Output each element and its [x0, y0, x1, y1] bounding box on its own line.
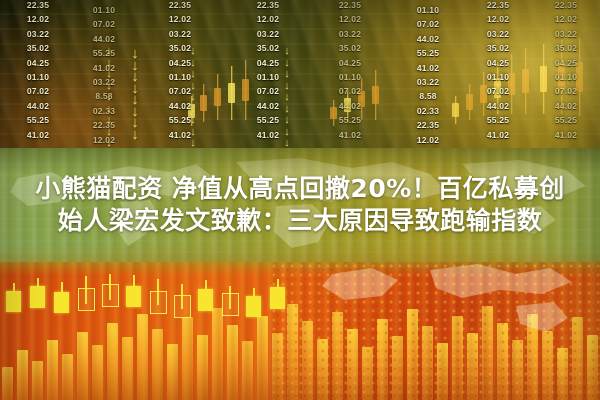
ticker-value: 22.35: [6, 0, 70, 10]
candle-body: [174, 295, 191, 318]
down-arrow-icon: ↓: [102, 127, 116, 138]
candle-body: [270, 287, 285, 309]
ticker-value: 41.02: [466, 130, 530, 140]
down-arrow-icon: ↓: [280, 92, 294, 103]
ticker-value: 22.35: [534, 0, 598, 10]
candle-body: [102, 284, 119, 307]
chart-candlestick: [78, 276, 93, 303]
chart-candlestick: [150, 279, 165, 305]
ticker-arrow-column: ↓↓↓↓↓↓↓↓↓: [280, 0, 294, 148]
headline-text-block: 小熊猫配资 净值从高点回撤20%！百亿私募创 始人梁宏发文致歉：三大原因导致跑输…: [0, 148, 600, 262]
ticker-value: 44.02: [466, 101, 530, 111]
ticker-value: 04.25: [534, 58, 598, 68]
ticker-value: 07.02: [318, 86, 382, 96]
down-arrow-icon: ↓: [186, 69, 200, 80]
ticker-value: 04.25: [148, 58, 212, 68]
ticker-value: 04.25: [318, 58, 382, 68]
chart-band: [0, 262, 600, 400]
candle-body: [54, 292, 69, 313]
ticker-value: 22.35: [466, 0, 530, 10]
ticker-value: 44.02: [6, 101, 70, 111]
ticker-arrow-column: ↓↓↓↓↓↓↓↓↓: [102, 0, 116, 148]
ticker-value: 12.02: [534, 14, 598, 24]
down-arrow-icon: ↓: [186, 138, 200, 148]
ticker-value: 55.25: [148, 115, 212, 125]
candle-body: [150, 291, 167, 314]
ticker-value: 12.02: [6, 14, 70, 24]
headline-line-1: 小熊猫配资 净值从高点回撤20%！百亿私募创: [35, 175, 565, 203]
ticker-value: 07.02: [6, 86, 70, 96]
down-arrow-icon: ↓: [102, 58, 116, 69]
ticker-candlestick: [228, 66, 235, 120]
ticker-value: 12.02: [148, 14, 212, 24]
ticker-value: 55.25: [396, 48, 460, 58]
ticker-column: 22.3512.0203.2235.0204.2501.1007.0244.02…: [6, 0, 70, 148]
down-arrow-icon: ↓: [102, 92, 116, 103]
ticker-value: 55.25: [6, 115, 70, 125]
ticker-value: 35.02: [466, 43, 530, 53]
ticker-value: 07.02: [148, 86, 212, 96]
down-arrow-icon: ↓: [128, 127, 142, 142]
ticker-value: 35.02: [534, 43, 598, 53]
ticker-value: 04.25: [6, 58, 70, 68]
ticker-value: 55.25: [466, 115, 530, 125]
chart-candlestick: [102, 274, 117, 300]
ticker-value: 01.10: [396, 5, 460, 15]
down-arrow-icon: ↓: [280, 104, 294, 115]
ticker-column: 22.3512.0203.2235.0204.2501.1007.0244.02…: [148, 0, 212, 148]
ticker-candlestick: [214, 74, 221, 120]
ticker-board-band: 22.3512.0203.2235.0204.2501.1007.0244.02…: [0, 0, 600, 148]
ticker-value: 01.10: [534, 72, 598, 82]
ticker-value: 01.10: [466, 72, 530, 82]
down-arrow-icon: ↓: [102, 69, 116, 80]
chart-candlestick: [126, 275, 141, 301]
ticker-value: 03.22: [6, 29, 70, 39]
ticker-value: 04.25: [466, 58, 530, 68]
ticker-value: 41.02: [534, 130, 598, 140]
ticker-value: 12.02: [466, 14, 530, 24]
down-arrow-icon: ↓: [280, 115, 294, 126]
ticker-column: 22.3512.0203.2235.0204.2501.1007.0244.02…: [534, 0, 598, 148]
ticker-value: 22.35: [318, 0, 382, 10]
candle-body: [228, 83, 235, 103]
ticker-value: 03.22: [534, 29, 598, 39]
chart-candlestick: [54, 282, 69, 308]
candle-body: [246, 296, 261, 317]
down-arrow-icon: ↓: [280, 58, 294, 69]
ticker-value: 02.33: [396, 106, 460, 116]
candle-body: [78, 288, 95, 311]
down-arrow-icon: ↓: [186, 46, 200, 57]
ticker-value: 03.22: [466, 29, 530, 39]
ticker-value: 35.02: [318, 43, 382, 53]
ticker-value: 01.10: [148, 72, 212, 82]
chart-candlestick: [6, 283, 21, 306]
news-banner-image: 22.3512.0203.2235.0204.2501.1007.0244.02…: [0, 0, 600, 400]
ticker-value: 41.02: [148, 130, 212, 140]
ticker-value: 35.02: [148, 43, 212, 53]
ticker-value: 07.02: [466, 86, 530, 96]
ticker-value: 55.25: [534, 115, 598, 125]
ticker-value: 44.02: [396, 34, 460, 44]
chart-candlestick: [222, 286, 237, 309]
down-arrow-icon: ↓: [280, 46, 294, 57]
down-arrow-icon: ↓: [186, 115, 200, 126]
down-arrow-icon: ↓: [186, 127, 200, 138]
ticker-arrow-column: ↓↓↓↓↓↓↓↓: [128, 0, 142, 148]
ticker-value: 41.02: [318, 130, 382, 140]
candle-body: [6, 291, 21, 312]
headline-line-2: 始人梁宏发文致歉：三大原因导致跑输指数: [58, 207, 543, 235]
ticker-value: 01.10: [6, 72, 70, 82]
ticker-arrow-column: ↓↓↓↓↓↓↓↓↓: [186, 0, 200, 148]
down-arrow-icon: ↓: [280, 69, 294, 80]
candle-body: [198, 289, 213, 310]
chart-candlestick: [198, 280, 213, 305]
ticker-value: 03.22: [318, 29, 382, 39]
down-arrow-icon: ↓: [102, 115, 116, 126]
ticker-value: 03.22: [396, 77, 460, 87]
down-arrow-icon: ↓: [186, 104, 200, 115]
down-arrow-icon: ↓: [280, 127, 294, 138]
candle-body: [214, 88, 221, 106]
ticker-value: 03.22: [148, 29, 212, 39]
down-arrow-icon: ↓: [102, 104, 116, 115]
ticker-value: 22.35: [396, 120, 460, 130]
chart-candlestick: [246, 288, 261, 311]
ticker-value: 41.02: [6, 130, 70, 140]
candle-body: [126, 286, 141, 307]
down-arrow-icon: ↓: [102, 46, 116, 57]
ticker-column: 22.3512.0203.2235.0204.2501.1007.0244.02…: [318, 0, 382, 148]
down-arrow-icon: ↓: [280, 81, 294, 92]
chart-candlestick: [30, 278, 45, 303]
ticker-value: 22.35: [148, 0, 212, 10]
down-arrow-icon: ↓: [186, 58, 200, 69]
chart-candlestick: [174, 284, 189, 309]
down-arrow-icon: ↓: [186, 92, 200, 103]
ticker-column: 01.1007.0244.0255.2541.0203.228.5802.332…: [396, 0, 460, 148]
ticker-value: 07.02: [534, 86, 598, 96]
ticker-value: 12.02: [318, 14, 382, 24]
down-arrow-icon: ↓: [102, 138, 116, 148]
ticker-value: 44.02: [534, 101, 598, 111]
down-arrow-icon: ↓: [102, 81, 116, 92]
ticker-column: 22.3512.0203.2235.0204.2501.1007.0244.02…: [466, 0, 530, 148]
chart-candlestick: [270, 279, 285, 304]
candle-body: [222, 293, 239, 316]
ticker-value: 44.02: [148, 101, 212, 111]
ticker-value: 35.02: [6, 43, 70, 53]
down-arrow-icon: ↓: [280, 138, 294, 148]
ticker-value: 01.10: [318, 72, 382, 82]
ticker-value: 41.02: [396, 63, 460, 73]
down-arrow-icon: ↓: [186, 81, 200, 92]
ticker-value: 07.02: [396, 19, 460, 29]
ticker-value: 8.58: [396, 91, 460, 101]
ticker-value: 44.02: [318, 101, 382, 111]
candle-body: [30, 286, 45, 308]
ticker-value: 12.02: [396, 135, 460, 145]
ticker-value: 55.25: [318, 115, 382, 125]
